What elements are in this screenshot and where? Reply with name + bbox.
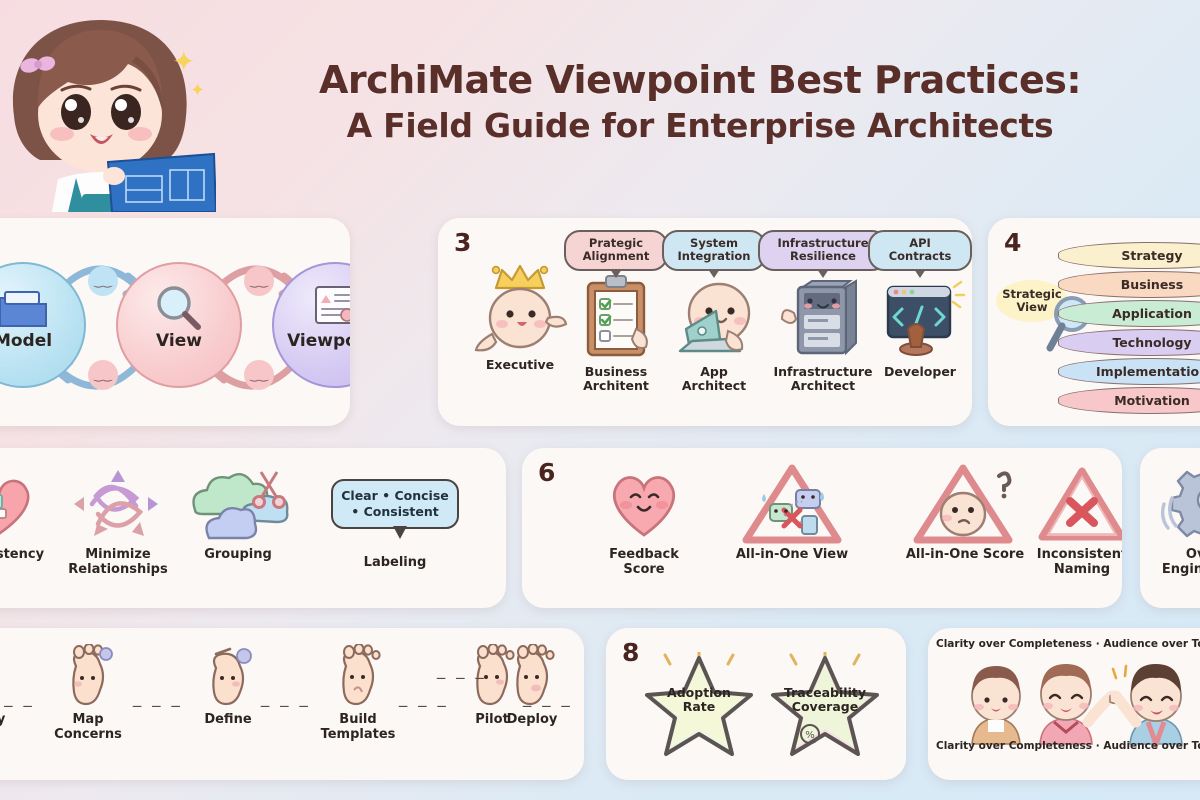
sparkle-icon: ✦ bbox=[190, 82, 205, 100]
roadmap-step-inventory[interactable]: Inventory bbox=[0, 644, 14, 728]
footprint-icon bbox=[202, 693, 254, 712]
footprint-icon bbox=[506, 693, 558, 712]
roadmap-step-deploy[interactable]: Deploy bbox=[488, 644, 576, 728]
crown-blob-icon bbox=[468, 258, 572, 354]
tagline-bottom: Clarity over Completeness · Audience ove… bbox=[936, 740, 1200, 752]
laptop-blob-icon bbox=[662, 271, 766, 361]
panel-number: 8 bbox=[622, 638, 639, 667]
principle-minimize-relationships[interactable]: Minimize Relationships bbox=[58, 462, 178, 577]
metric-label: Adoption Rate bbox=[640, 686, 758, 715]
title-line-1: ArchiMate Viewpoint Best Practices: bbox=[230, 58, 1170, 103]
concern-bubble: API Contracts bbox=[868, 230, 972, 271]
principle-label: Minimize Relationships bbox=[58, 548, 178, 577]
principle-label: Consistency bbox=[0, 548, 60, 563]
speech-bubble-icon: Clear • Concise • Consistent bbox=[322, 462, 468, 546]
roadmap-step-build-templates[interactable]: Build Templates bbox=[314, 644, 402, 742]
heart-face-icon bbox=[584, 462, 704, 546]
warning-triangle-x-icon bbox=[1022, 462, 1122, 546]
antipattern-over-engineering[interactable]: Over-Engineering bbox=[1146, 462, 1200, 577]
roadmap-step-label: Build Templates bbox=[314, 713, 402, 742]
roadmap-connector: ‒ ‒ ‒ bbox=[0, 696, 35, 715]
antipattern-feedback-score[interactable]: Feedback Score bbox=[584, 462, 704, 577]
magnifier-icon bbox=[153, 284, 205, 336]
roadmap-step-map-concerns[interactable]: Map Concerns bbox=[44, 644, 132, 742]
title-line-2: A Field Guide for Enterprise Architects bbox=[230, 105, 1170, 146]
metric-traceability-coverage[interactable]: % Traceability Coverage bbox=[766, 652, 884, 758]
concept-label: Viewpoint bbox=[287, 331, 350, 351]
panel-antipatterns[interactable]: 6 Feedback Score bbox=[522, 448, 1122, 608]
page-header: ✦ ✦ ArchiMate Viewpoint Best Practices: … bbox=[0, 0, 1200, 212]
face-dot-icon: ‿‿ bbox=[244, 266, 274, 296]
footprint-icon bbox=[332, 693, 384, 712]
code-window-icon bbox=[868, 271, 972, 361]
antipattern-label: Over-Engineering bbox=[1146, 548, 1200, 577]
roadmap-step-define[interactable]: Define bbox=[184, 644, 272, 728]
layer-strategy[interactable]: Strategy bbox=[1058, 242, 1200, 269]
antipattern-label: Feedback Score bbox=[584, 548, 704, 577]
principle-consistency[interactable]: Consistency bbox=[0, 462, 60, 563]
panel-number: 4 bbox=[1004, 228, 1021, 257]
panel-layer-stack[interactable]: 4 Strategic View Strategy Business Appli… bbox=[988, 218, 1200, 426]
panel-number: 6 bbox=[538, 458, 555, 487]
antipattern-label: Inconsistent Naming bbox=[1022, 548, 1122, 577]
antipattern-all-in-one-view[interactable]: All-in-One View bbox=[712, 462, 872, 563]
layer-motivation[interactable]: Motivation bbox=[1058, 387, 1200, 414]
concern-bubble: System Integration bbox=[662, 230, 766, 271]
stakeholder-label: Business Architent bbox=[564, 365, 668, 393]
panel-over-engineering[interactable]: Over-Engineering bbox=[1140, 448, 1200, 608]
panel-number: 3 bbox=[454, 228, 471, 257]
warning-triangle-messy-icon bbox=[712, 462, 872, 546]
roadmap-connector: ‒ ‒ ‒ bbox=[436, 668, 487, 687]
face-dot-icon: ‿‿ bbox=[88, 360, 118, 390]
panel-success-metrics[interactable]: 8 Adoption Rate % Traceability Coverage bbox=[606, 628, 906, 780]
document-icon bbox=[309, 284, 350, 334]
stakeholder-label: Developer bbox=[868, 365, 972, 379]
roadmap-connector: ‒ ‒ ‒ bbox=[132, 696, 183, 715]
stakeholder-executive[interactable]: Executive bbox=[468, 258, 572, 372]
panel-model-view-viewpoint[interactable]: ‿‿ ‿‿ ‿‿ ‿‿ Model View bbox=[0, 218, 350, 426]
antipattern-label: All-in-One View bbox=[712, 548, 872, 563]
page-title: ArchiMate Viewpoint Best Practices: A Fi… bbox=[230, 58, 1170, 146]
metric-adoption-rate[interactable]: Adoption Rate bbox=[640, 652, 758, 758]
face-dot-icon: ‿‿ bbox=[88, 266, 118, 296]
concern-bubble: Prategic Alignment bbox=[564, 230, 668, 271]
stakeholder-label: App Architect bbox=[662, 365, 766, 393]
principle-grouping[interactable]: Grouping bbox=[178, 462, 298, 563]
roadmap-step-label: Inventory bbox=[0, 713, 14, 728]
clouds-scissors-icon bbox=[178, 462, 298, 546]
principle-labeling[interactable]: Clear • Concise • Consistent Labeling bbox=[322, 462, 468, 571]
antipattern-inconsistent-naming[interactable]: Inconsistent Naming bbox=[1022, 462, 1122, 577]
roadmap-step-label: Map Concerns bbox=[44, 713, 132, 742]
stakeholder-app-architect[interactable]: System Integration App Architect bbox=[662, 230, 766, 393]
roadmap-step-label: Deploy bbox=[488, 713, 576, 728]
face-dot-icon: ‿‿ bbox=[244, 360, 274, 390]
team-high-five-icon bbox=[942, 658, 1200, 748]
stakeholder-developer[interactable]: API Contracts Developer bbox=[868, 230, 972, 379]
concept-label: Model bbox=[0, 331, 52, 351]
heart-icon bbox=[0, 462, 60, 546]
labeling-bubble-text: Clear • Concise • Consistent bbox=[331, 479, 459, 529]
svg-text:%: % bbox=[805, 730, 815, 741]
layer-implementation[interactable]: Implementation bbox=[1058, 358, 1200, 385]
panel-guiding-principles[interactable]: Clarity over Completeness · Audience ove… bbox=[928, 628, 1200, 780]
tagline-top: Clarity over Completeness · Audience ove… bbox=[936, 638, 1200, 650]
panel-stakeholder-concerns[interactable]: 3 Executive Prategic Alignment bbox=[438, 218, 972, 426]
roadmap-connector: ‒ ‒ ‒ bbox=[260, 696, 311, 715]
concept-circle-view[interactable]: View bbox=[116, 262, 242, 388]
folder-icon bbox=[0, 286, 50, 334]
principle-label: Grouping bbox=[178, 548, 298, 563]
stakeholder-business-architect[interactable]: Prategic Alignment Business Architent bbox=[564, 230, 668, 393]
tangled-arrows-icon bbox=[58, 462, 178, 546]
stakeholder-label: Executive bbox=[468, 358, 572, 372]
clipboard-icon bbox=[564, 271, 668, 361]
gear-icon bbox=[1146, 462, 1200, 546]
metric-label: Traceability Coverage bbox=[766, 686, 884, 715]
roadmap-step-label: Define bbox=[184, 713, 272, 728]
architect-girl-mascot: ✦ ✦ bbox=[0, 4, 216, 212]
panel-modeling-principles[interactable]: Consistency Minimize Relationships bbox=[0, 448, 506, 608]
footprint-icon bbox=[62, 693, 114, 712]
principle-label: Labeling bbox=[322, 556, 468, 571]
sparkle-icon: ✦ bbox=[172, 48, 195, 76]
roadmap-connector: ‒ ‒ ‒ bbox=[398, 696, 449, 715]
